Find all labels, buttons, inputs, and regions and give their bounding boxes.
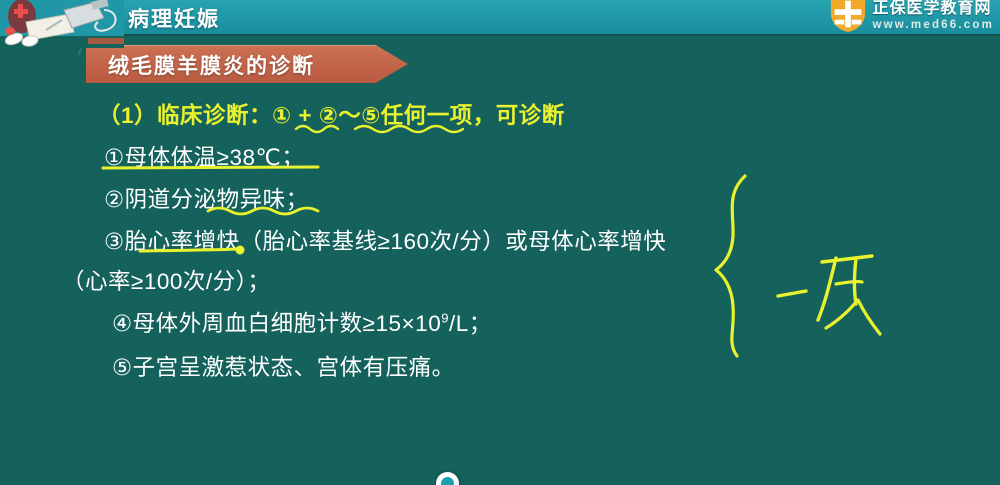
brand-name: 正保医学教育网 — [873, 1, 994, 17]
med66-shield-cross-logo — [829, 0, 867, 33]
section-banner: 绒毛膜羊膜炎的诊断 — [86, 45, 408, 83]
item-4-text-b: /L； — [449, 311, 492, 336]
handwritten-xiang-top — [822, 256, 872, 262]
handwritten-xiang-bar — [836, 282, 862, 284]
item-4-exponent: 9 — [441, 311, 449, 326]
brand-logo: 正保医学教育网 www.med66.com — [829, 0, 994, 36]
lecture-slide: 病理妊娠 — [0, 0, 1000, 485]
banner-title: 绒毛膜羊膜炎的诊断 — [108, 50, 315, 80]
item-4-text-a: ④母体外周血白细胞计数≥15×10 — [112, 311, 441, 336]
handwritten-xiang-left — [818, 258, 836, 320]
handwritten-xiang-inner — [855, 258, 857, 304]
slide-line-item-3b: （心率≥100次/分）； — [62, 264, 270, 296]
handwritten-stroke-yi — [778, 291, 806, 296]
slide-line-item-5: ⑤子宫呈激惹状态、宫体有压痛。 — [112, 350, 455, 382]
slide-line-item-1: ①母体体温≥38℃； — [104, 140, 304, 172]
medical-syringe-illustration — [0, 0, 124, 48]
slide-line-intro: （1）临床诊断：① + ②～⑤任何一项，可诊断 — [98, 98, 565, 130]
player-progress-dot[interactable] — [436, 472, 459, 485]
slide-line-item-2: ②阴道分泌物异味； — [104, 182, 309, 214]
header-title: 病理妊娠 — [128, 3, 220, 33]
handwritten-curly-brace — [716, 176, 745, 356]
handwritten-xiang-na — [858, 300, 880, 334]
slide-line-item-4: ④母体外周血白细胞计数≥15×109/L； — [112, 306, 492, 338]
brand-url: www.med66.com — [873, 20, 994, 32]
handwritten-xiang-pie — [826, 302, 856, 328]
slide-line-item-3: ③胎心率增快（胎心率基线≥160次/分）或母体心率增快 — [104, 224, 666, 256]
